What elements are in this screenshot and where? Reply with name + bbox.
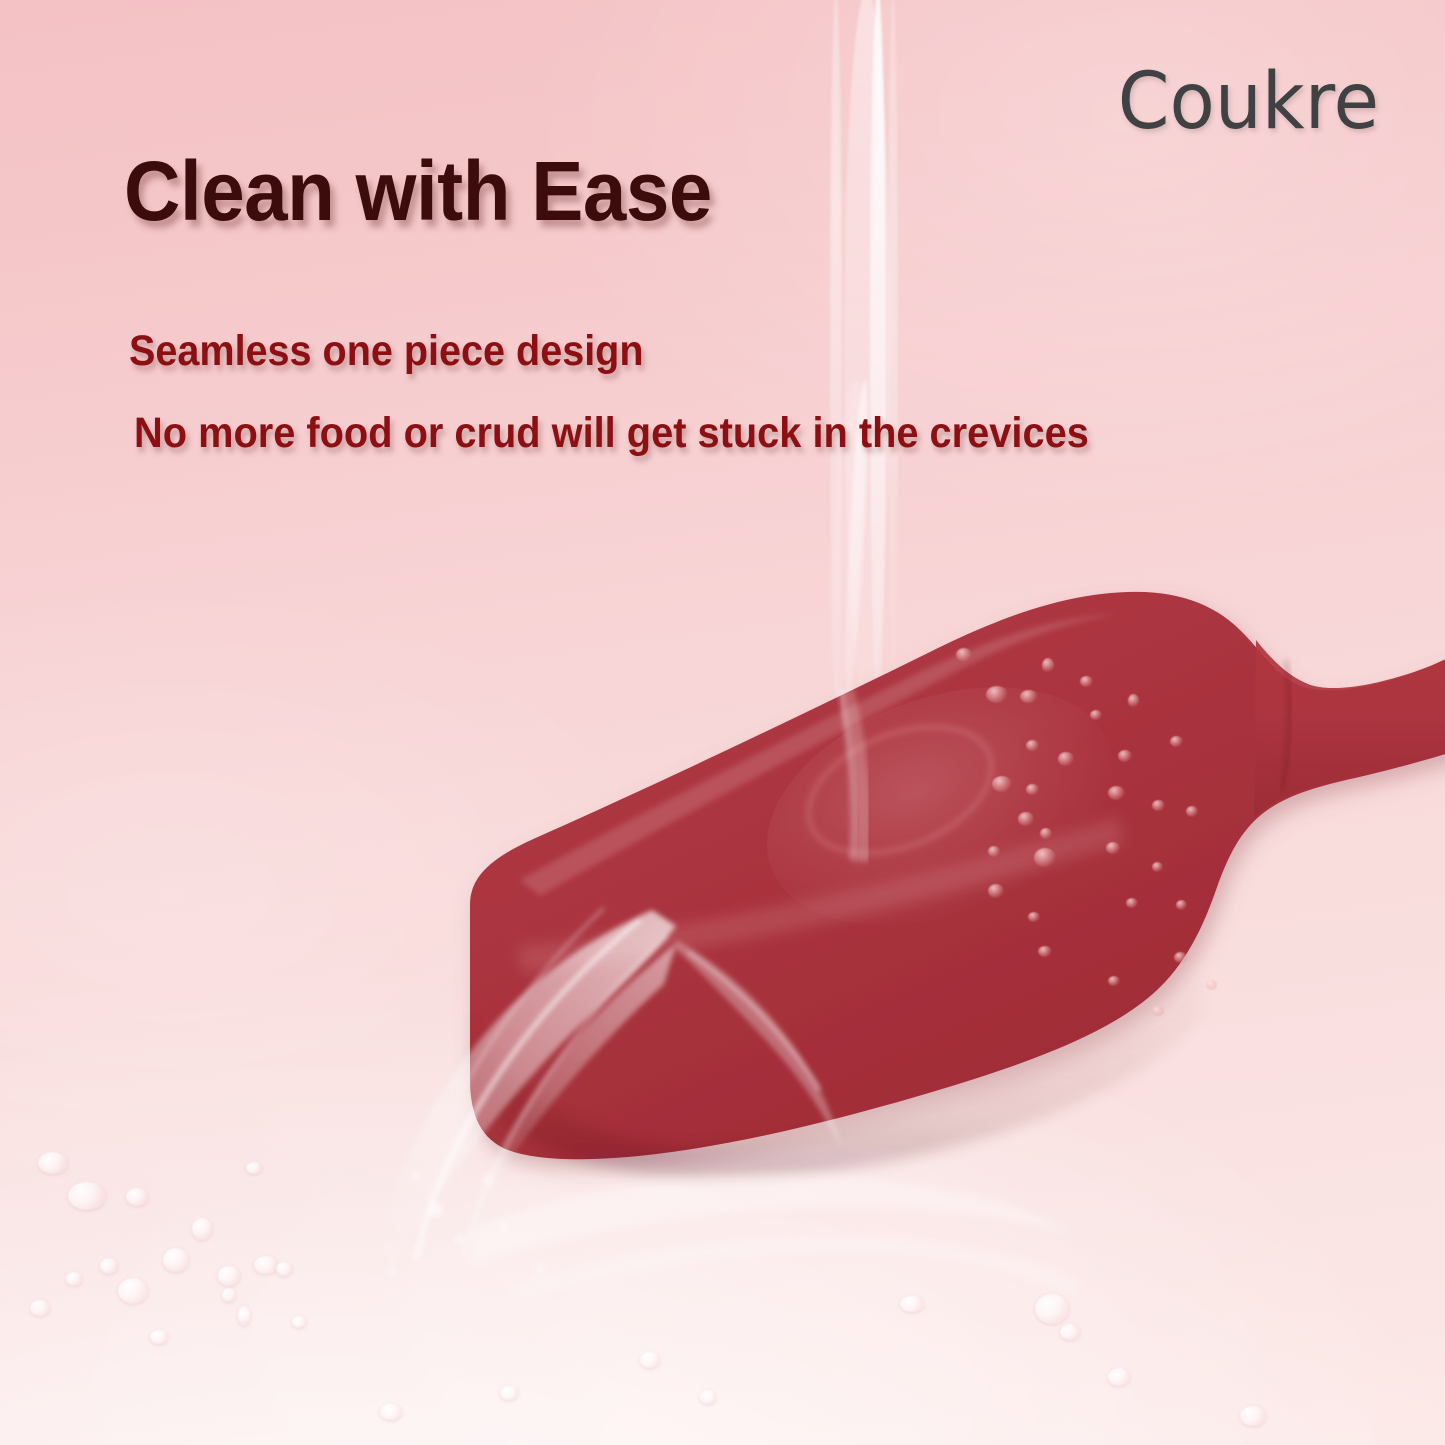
subtitle-line-1: Seamless one piece design <box>129 327 644 376</box>
headline-text: Clean with Ease <box>124 143 712 240</box>
text-layer: Coukre Clean with Ease Seamless one piec… <box>0 0 1445 1445</box>
subtitle-line-2: No more food or crud will get stuck in t… <box>134 409 1089 458</box>
product-feature-poster: Coukre Clean with Ease Seamless one piec… <box>0 0 1445 1445</box>
brand-logo-text: Coukre <box>1118 57 1379 147</box>
